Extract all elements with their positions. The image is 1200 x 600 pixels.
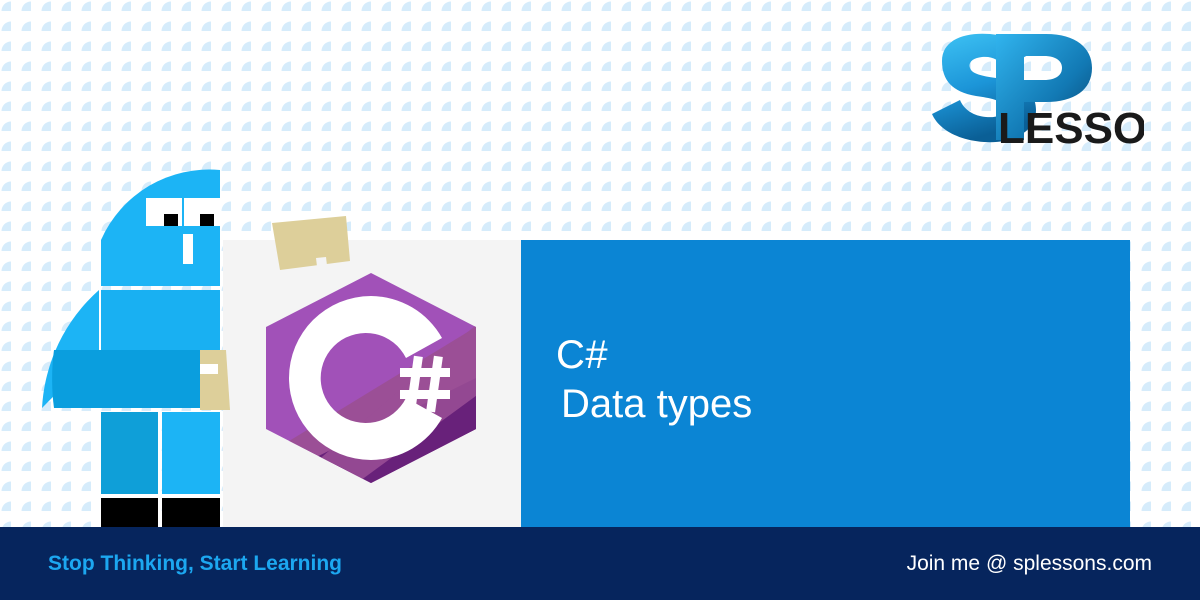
tan-book [258, 214, 358, 276]
splessons-logo: LESSONS [912, 28, 1144, 153]
footer-bar: Stop Thinking, Start Learning Join me @ … [0, 527, 1200, 600]
csharp-hexagon-logo [258, 270, 484, 486]
page-subtitle: Data types [556, 378, 752, 430]
footer-website[interactable]: Join me @ splessons.com [907, 552, 1152, 576]
content-panel-blue: C# Data types [521, 240, 1130, 528]
banner-image: C# Data types [0, 0, 1200, 600]
title-block: C# Data types [556, 332, 752, 430]
logo-wordmark: LESSONS [998, 104, 1144, 153]
programmer-character [40, 168, 264, 530]
footer-tagline: Stop Thinking, Start Learning [48, 552, 342, 576]
page-title: C# [556, 332, 752, 378]
